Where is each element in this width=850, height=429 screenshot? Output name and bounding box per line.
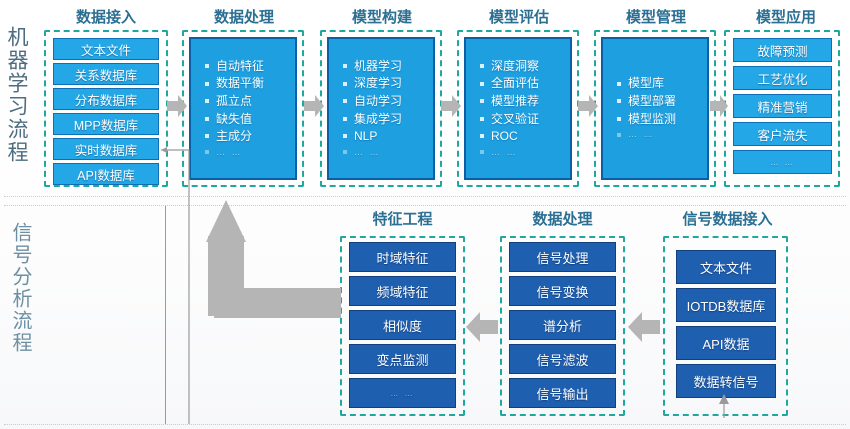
- ml-flow-side-label: 机器学习流程: [2, 26, 32, 164]
- diagram-canvas: 机器学习流程 信号分析流程 数据接入 数据处理 模型构建 模型评估 模型管理 模…: [0, 0, 850, 429]
- bullet-icon: [480, 117, 484, 121]
- chip-fault-prediction[interactable]: 故障预测: [733, 38, 832, 62]
- list-item[interactable]: 深度学习: [329, 77, 433, 90]
- col-title-model-build: 模型构建: [318, 6, 446, 27]
- list-item-label: 模型部署: [628, 95, 676, 108]
- arrow-ingest-to-processing: [167, 95, 187, 117]
- bullet-icon: [205, 99, 209, 103]
- list-item[interactable]: 自动特征: [191, 60, 295, 73]
- arrow-manage-to-apply: [710, 95, 728, 117]
- chip-similarity[interactable]: 相似度: [349, 310, 456, 340]
- bullet-icon: [205, 64, 209, 68]
- section-divider-top: [4, 196, 846, 197]
- list-item-label: 孤立点: [216, 95, 252, 108]
- col-title-model-manage: 模型管理: [592, 6, 720, 27]
- signal-section-left-divider: [165, 206, 166, 424]
- chip-api-db[interactable]: API数据库: [53, 163, 159, 185]
- list-item-label: 深度洞察: [491, 60, 539, 73]
- list-item-label: 集成学习: [354, 113, 402, 126]
- bullet-icon: [480, 150, 484, 154]
- list-item-label: 机器学习: [354, 60, 402, 73]
- list-item[interactable]: ROC: [466, 130, 570, 143]
- list-item-label: 深度学习: [354, 77, 402, 90]
- bullet-icon: [343, 117, 347, 121]
- list-item-label: 缺失值: [216, 113, 252, 126]
- list-item-label: 自动特征: [216, 60, 264, 73]
- chip-change-point-detection[interactable]: 变点监测: [349, 344, 456, 374]
- arrow-eval-to-manage: [578, 95, 598, 117]
- panel-model-eval: 深度洞察 全面评估 模型推荐 交叉验证 ROC … …: [464, 37, 572, 180]
- list-item[interactable]: 全面评估: [466, 77, 570, 90]
- chip-mpp-db[interactable]: MPP数据库: [53, 113, 159, 135]
- list-item-label: NLP: [354, 130, 377, 143]
- col-title-data-ingest: 数据接入: [42, 6, 170, 27]
- bullet-icon: [205, 134, 209, 138]
- list-item[interactable]: 交叉验证: [466, 113, 570, 126]
- list-item[interactable]: 集成学习: [329, 113, 433, 126]
- list-item-label: 自动学习: [354, 95, 402, 108]
- bullet-icon: [343, 64, 347, 68]
- list-item[interactable]: 深度洞察: [466, 60, 570, 73]
- panel-data-processing: 自动特征 数据平衡 孤立点 缺失值 主成分 … …: [189, 37, 297, 180]
- list-item[interactable]: 自动学习: [329, 95, 433, 108]
- col-title-feature-engineering: 特征工程: [340, 208, 465, 229]
- arrow-build-to-eval: [441, 95, 461, 117]
- list-item-ellipsis: … …: [603, 130, 707, 139]
- signal-flow-side-label: 信号分析流程: [6, 222, 35, 354]
- list-item-label: … …: [491, 148, 518, 157]
- list-item-label: … …: [628, 130, 655, 139]
- list-item[interactable]: 缺失值: [191, 113, 295, 126]
- bullet-icon: [480, 82, 484, 86]
- list-item-label: 模型监测: [628, 113, 676, 126]
- col-title-signal-processing: 数据处理: [500, 208, 625, 229]
- col-title-model-apply: 模型应用: [722, 6, 850, 27]
- list-item[interactable]: 数据平衡: [191, 77, 295, 90]
- chip-relational-db[interactable]: 关系数据库: [53, 63, 159, 85]
- chip-signal-transform[interactable]: 信号变换: [509, 276, 616, 306]
- list-item-label: … …: [216, 148, 243, 157]
- bullet-icon: [205, 82, 209, 86]
- col-title-model-eval: 模型评估: [455, 6, 583, 27]
- bullet-icon: [480, 64, 484, 68]
- list-item[interactable]: 孤立点: [191, 95, 295, 108]
- list-item-ellipsis: … …: [466, 148, 570, 157]
- list-item-label: 交叉验证: [491, 113, 539, 126]
- chip-more-ellipsis: … …: [733, 150, 832, 174]
- bullet-icon: [343, 134, 347, 138]
- bullet-icon: [617, 133, 621, 137]
- list-item[interactable]: 模型部署: [603, 95, 707, 108]
- chip-api-data[interactable]: API数据: [676, 326, 776, 360]
- panel-model-build: 机器学习 深度学习 自动学习 集成学习 NLP … …: [327, 37, 435, 180]
- list-item-label: 模型库: [628, 77, 664, 90]
- chip-precision-marketing[interactable]: 精准营销: [733, 94, 832, 118]
- bullet-icon: [480, 134, 484, 138]
- chip-customer-churn[interactable]: 客户流失: [733, 122, 832, 146]
- list-item-label: 全面评估: [491, 77, 539, 90]
- col-title-signal-ingest: 信号数据接入: [655, 208, 800, 229]
- chip-signal-processing[interactable]: 信号处理: [509, 242, 616, 272]
- list-item[interactable]: 模型监测: [603, 113, 707, 126]
- list-item[interactable]: 模型推荐: [466, 95, 570, 108]
- arrow-processing-to-feature: [466, 312, 498, 342]
- chip-realtime-db[interactable]: 实时数据库: [53, 138, 159, 160]
- arrow-processing-to-build: [304, 95, 324, 117]
- list-item-ellipsis: … …: [329, 148, 433, 157]
- chip-distributed-db[interactable]: 分布数据库: [53, 88, 159, 110]
- list-item-label: ROC: [491, 130, 518, 143]
- canvas-bottom-rule: [4, 424, 846, 425]
- panel-model-manage: 模型库 模型部署 模型监测 … …: [601, 37, 709, 180]
- chip-time-domain-feature[interactable]: 时域特征: [349, 242, 456, 272]
- list-item-label: 主成分: [216, 130, 252, 143]
- list-item[interactable]: 模型库: [603, 77, 707, 90]
- chip-process-optimize[interactable]: 工艺优化: [733, 66, 832, 90]
- chip-text-file[interactable]: 文本文件: [53, 38, 159, 60]
- bullet-icon: [205, 150, 209, 154]
- chip-spectral-analysis[interactable]: 谱分析: [509, 310, 616, 340]
- chip-more-ellipsis: … …: [349, 378, 456, 408]
- list-item-label: … …: [354, 148, 381, 157]
- bullet-icon: [205, 117, 209, 121]
- list-item-label: 数据平衡: [216, 77, 264, 90]
- bullet-icon: [617, 117, 621, 121]
- list-item[interactable]: 主成分: [191, 130, 295, 143]
- chip-freq-domain-feature[interactable]: 频域特征: [349, 276, 456, 306]
- bullet-icon: [343, 99, 347, 103]
- list-item-ellipsis: … …: [191, 148, 295, 157]
- chip-iotdb-database[interactable]: IOTDB数据库: [676, 288, 776, 322]
- bullet-icon: [617, 99, 621, 103]
- arrow-ingest-to-processing-signal: [628, 312, 660, 342]
- chip-data-to-signal[interactable]: 数据转信号: [676, 364, 776, 398]
- chip-signal-filtering[interactable]: 信号滤波: [509, 344, 616, 374]
- list-item-label: 模型推荐: [491, 95, 539, 108]
- chip-text-file[interactable]: 文本文件: [676, 250, 776, 284]
- list-item[interactable]: 机器学习: [329, 60, 433, 73]
- bullet-icon: [343, 150, 347, 154]
- chip-signal-output[interactable]: 信号输出: [509, 378, 616, 408]
- bullet-icon: [617, 82, 621, 86]
- bullet-icon: [480, 99, 484, 103]
- bullet-icon: [343, 82, 347, 86]
- arrow-feedback-up-elbow: [196, 200, 341, 332]
- list-item[interactable]: NLP: [329, 130, 433, 143]
- col-title-data-processing: 数据处理: [180, 6, 308, 27]
- section-divider-bottom: [4, 205, 846, 206]
